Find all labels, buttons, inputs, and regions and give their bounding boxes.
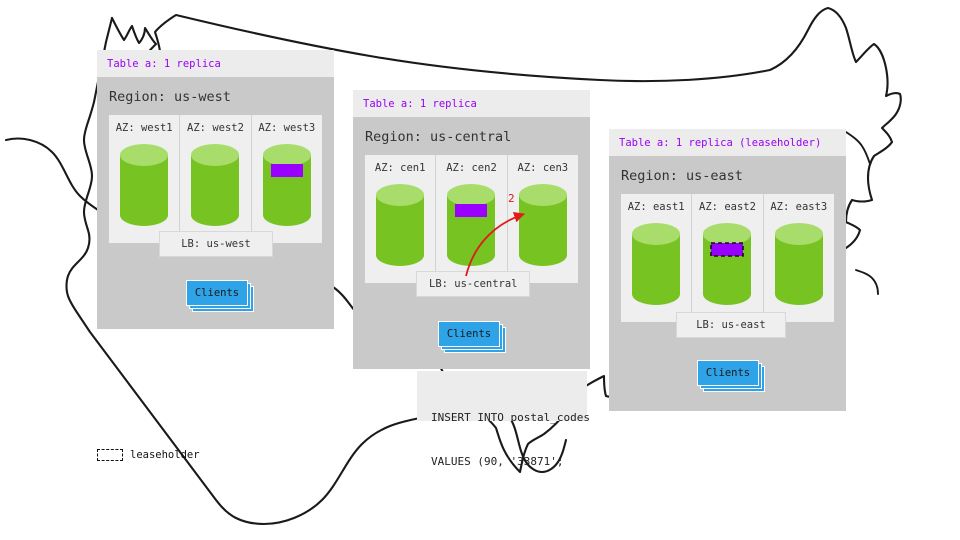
replica-cylinder-east1[interactable] <box>630 221 682 307</box>
az-cen1[interactable]: AZ: cen1 <box>365 155 436 283</box>
clients-card-front[interactable]: Clients <box>438 321 500 347</box>
az-west3[interactable]: AZ: west3 <box>252 115 322 243</box>
region-title-us-central: Region: us-central <box>353 117 590 155</box>
replica-bar-east2-leaseholder <box>711 243 743 256</box>
region-title-us-west: Region: us-west <box>97 77 334 115</box>
az-west1[interactable]: AZ: west1 <box>109 115 180 243</box>
az-west2[interactable]: AZ: west2 <box>180 115 251 243</box>
legend-label: leaseholder <box>130 449 200 461</box>
az-label-east3: AZ: east3 <box>770 201 827 213</box>
clients-card-front[interactable]: Clients <box>186 280 248 306</box>
replica-cylinder-cen3[interactable] <box>517 182 569 268</box>
az-container-us-west: AZ: west1 AZ: west2 <box>109 115 322 243</box>
az-label-cen1: AZ: cen1 <box>375 162 426 174</box>
load-balancer-us-east[interactable]: LB: us-east <box>676 312 786 338</box>
az-cen3[interactable]: AZ: cen3 <box>508 155 578 283</box>
region-header-us-east: Table a: 1 replica (leaseholder) <box>609 129 846 156</box>
region-panel-us-west: Table a: 1 replica Region: us-west AZ: w… <box>97 50 334 329</box>
clients-card-front[interactable]: Clients <box>697 360 759 386</box>
replica-cylinder-east2[interactable] <box>701 221 753 307</box>
az-label-east1: AZ: east1 <box>628 201 685 213</box>
replica-bar-cen2 <box>455 204 487 217</box>
sql-line-2: VALUES (90, '33871'; <box>431 455 573 470</box>
az-east1[interactable]: AZ: east1 <box>621 194 692 322</box>
arrow-label-2: 2 <box>508 192 515 205</box>
replica-cylinder-cen1[interactable] <box>374 182 426 268</box>
sql-line-1: INSERT INTO postal_codes <box>431 411 573 426</box>
replica-cylinder-east3[interactable] <box>773 221 825 307</box>
az-label-cen2: AZ: cen2 <box>446 162 497 174</box>
clients-button-us-central[interactable]: Clients <box>438 321 500 347</box>
region-header-us-west: Table a: 1 replica <box>97 50 334 77</box>
az-east2[interactable]: AZ: east2 <box>692 194 763 322</box>
az-label-east2: AZ: east2 <box>699 201 756 213</box>
load-balancer-us-west[interactable]: LB: us-west <box>159 231 273 257</box>
replica-bar-west3 <box>271 164 303 177</box>
replica-cylinder-west3[interactable] <box>261 142 313 228</box>
legend: leaseholder <box>97 449 200 461</box>
region-panel-us-east: Table a: 1 replica (leaseholder) Region:… <box>609 129 846 411</box>
replica-cylinder-west1[interactable] <box>118 142 170 228</box>
az-label-west2: AZ: west2 <box>187 122 244 134</box>
clients-button-us-west[interactable]: Clients <box>186 280 248 306</box>
az-container-us-central: AZ: cen1 AZ: cen2 <box>365 155 578 283</box>
az-east3[interactable]: AZ: east3 <box>764 194 834 322</box>
az-label-west3: AZ: west3 <box>258 122 315 134</box>
region-title-us-east: Region: us-east <box>609 156 846 194</box>
replica-cylinder-cen2[interactable] <box>445 182 497 268</box>
leaseholder-swatch-icon <box>97 449 123 461</box>
az-cen2[interactable]: AZ: cen2 <box>436 155 507 283</box>
az-label-cen3: AZ: cen3 <box>518 162 569 174</box>
sql-statement-box: INSERT INTO postal_codes VALUES (90, '33… <box>417 371 587 421</box>
clients-button-us-east[interactable]: Clients <box>697 360 759 386</box>
load-balancer-us-central[interactable]: LB: us-central <box>416 271 530 297</box>
diagram-canvas: Table a: 1 replica Region: us-west AZ: w… <box>0 0 960 540</box>
az-label-west1: AZ: west1 <box>116 122 173 134</box>
az-container-us-east: AZ: east1 AZ: east2 <box>621 194 834 322</box>
region-panel-us-central: Table a: 1 replica Region: us-central AZ… <box>353 90 590 369</box>
replica-cylinder-west2[interactable] <box>189 142 241 228</box>
region-header-us-central: Table a: 1 replica <box>353 90 590 117</box>
